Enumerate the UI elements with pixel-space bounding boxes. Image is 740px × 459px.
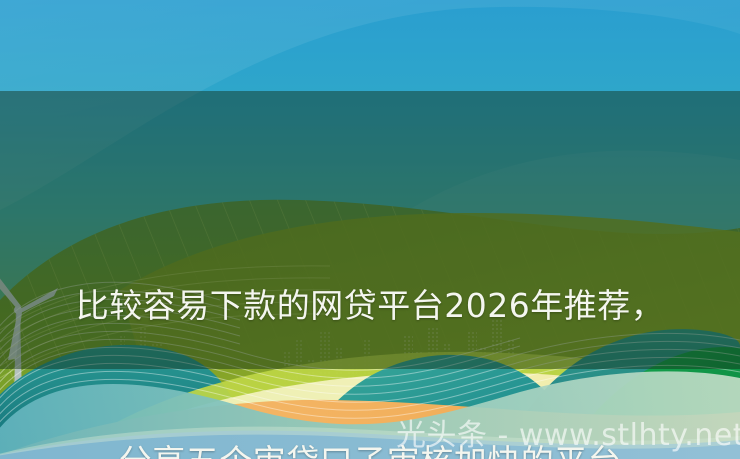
headline-text: 比较容易下款的网贷平台2026年推荐， 分享五个审贷口子审核加快的平台	[0, 176, 740, 459]
poster-canvas: 比较容易下款的网贷平台2026年推荐， 分享五个审贷口子审核加快的平台 光头条 …	[0, 0, 740, 459]
headline-line-1: 比较容易下款的网贷平台2026年推荐，	[0, 280, 740, 332]
headline-line-2: 分享五个审贷口子审核加快的平台	[0, 436, 740, 459]
